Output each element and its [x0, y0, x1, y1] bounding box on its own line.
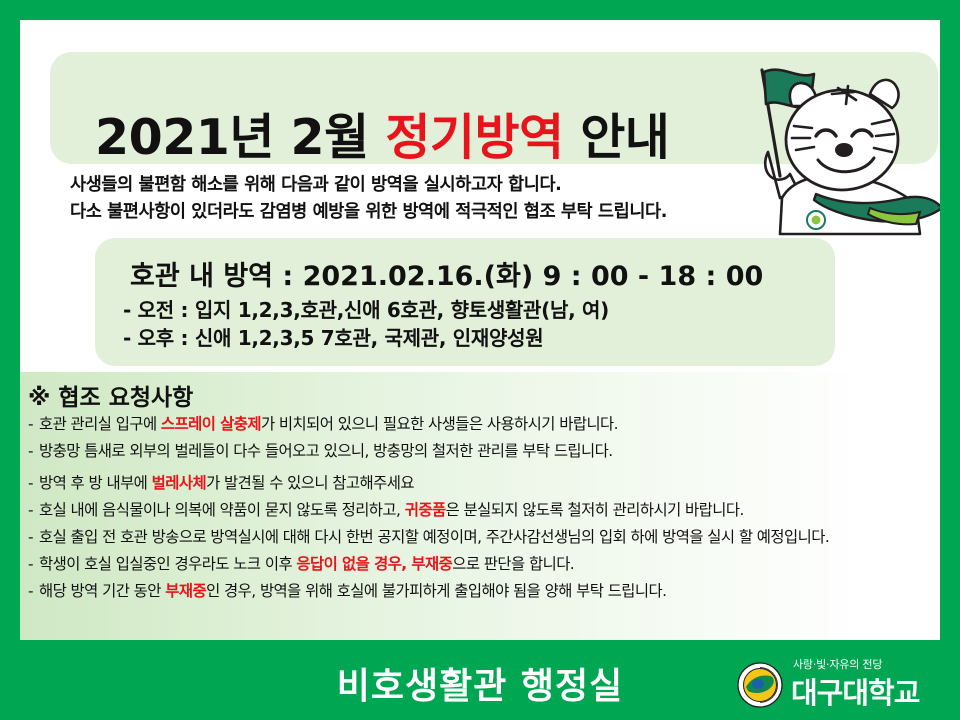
request-item-emphasis: 귀중품: [405, 501, 446, 519]
request-item-emphasis: 응답이 없을 경우, 부재중: [296, 555, 452, 573]
request-panel: ※ 협조 요청사항 호관 관리실 입구에 스프레이 살충제가 비치되어 있으니 …: [20, 372, 940, 640]
title-tail: 안내: [580, 109, 669, 166]
request-item-emphasis: 부재중: [165, 582, 206, 600]
request-item: 호실 출입 전 호관 방송으로 방역실시에 대해 다시 한번 공지할 예정이며,…: [28, 527, 919, 547]
university-name: 대구대학교: [791, 670, 919, 712]
request-item-pre: 호실 출입 전 호관 방송으로 방역실시에 대해 다시 한번 공지할 예정이며,…: [39, 528, 829, 546]
request-item: 해당 방역 기간 동안 부재중인 경우, 방역을 위해 호실에 불가피하게 출입…: [28, 581, 928, 601]
request-item-pre: 호관 관리실 입구에: [39, 415, 161, 433]
request-item: 호실 내에 음식물이나 의복에 약품이 묻지 않도록 정리하고, 귀중품은 분실…: [28, 500, 928, 520]
schedule-morning: - 오전 : 입지 1,2,3,호관,신애 6호관, 향토생활관(남, 여): [123, 296, 609, 324]
title-banner: 2021년 2월 정기방역 안내: [50, 52, 938, 164]
title-month-suffix: 월: [324, 109, 369, 166]
request-item: 방충망 틈새로 외부의 벌레들이 다수 들어오고 있으니, 방충망의 철저한 관…: [28, 441, 928, 461]
poster-sheet: 2021년 2월 정기방역 안내: [20, 20, 940, 640]
title-month: 2: [291, 109, 325, 166]
request-item-emphasis: 스프레이 살충제: [161, 415, 261, 433]
request-item-pre: 방역 후 방 내부에: [39, 474, 152, 492]
university-logo: 사랑·빛·자유의 전당 대구대학교: [737, 652, 942, 714]
request-item: 방역 후 방 내부에 벌레사체가 발견될 수 있으니 참고해주세요: [28, 473, 928, 493]
request-item-post: 은 분실되지 않도록 철저히 관리하시기 바랍니다.: [446, 501, 744, 519]
request-item-pre: 학생이 호실 입실중인 경우라도 노크 이후: [39, 555, 296, 573]
request-item: 학생이 호실 입실중인 경우라도 노크 이후 응답이 없을 경우, 부재중으로 …: [28, 554, 928, 574]
title-year-suffix: 년: [229, 109, 274, 166]
request-item-post: 가 비치되어 있으니 필요한 사생들은 사용하시기 바랍니다.: [261, 415, 618, 433]
university-emblem-icon: [737, 662, 783, 708]
page-title: 2021년 2월 정기방역 안내: [95, 98, 815, 169]
request-section-title: ※ 협조 요청사항: [28, 378, 193, 412]
request-item-pre: 방충망 틈새로 외부의 벌레들이 다수 들어오고 있으니, 방충망의 철저한 관…: [39, 442, 613, 460]
request-item-pre: 해당 방역 기간 동안: [39, 582, 165, 600]
poster-root: 2021년 2월 정기방역 안내: [0, 0, 960, 720]
request-item-post: 가 발견될 수 있으니 참고해주세요: [206, 474, 414, 492]
title-highlight: 정기방역: [385, 109, 563, 166]
request-item-pre: 호실 내에 음식물이나 의복에 약품이 묻지 않도록 정리하고,: [39, 501, 405, 519]
schedule-heading: 호관 내 방역 : 2021.02.16.(화) 9 : 00 - 18 : 0…: [130, 254, 763, 293]
schedule-detail-list: - 오전 : 입지 1,2,3,호관,신애 6호관, 향토생활관(남, 여) -…: [123, 296, 609, 353]
request-list: 호관 관리실 입구에 스프레이 살충제가 비치되어 있으니 필요한 사생들은 사…: [28, 414, 928, 608]
schedule-box: 호관 내 방역 : 2021.02.16.(화) 9 : 00 - 18 : 0…: [95, 238, 835, 366]
intro-paragraph: 사생들의 불편함 해소를 위해 다음과 같이 방역을 실시하고자 합니다. 다소…: [70, 172, 770, 226]
title-year: 2021: [95, 109, 229, 166]
intro-line-2: 다소 불편사항이 있더라도 감염병 예방을 위한 방역에 적극적인 협조 부탁 …: [70, 199, 770, 226]
request-item-post: 인 경우, 방역을 위해 호실에 불가피하게 출입해야 됨을 양해 부탁 드립니…: [206, 582, 666, 600]
schedule-afternoon: - 오후 : 신애 1,2,3,5 7호관, 국제관, 인재양성원: [123, 324, 609, 352]
request-item: 호관 관리실 입구에 스프레이 살충제가 비치되어 있으니 필요한 사생들은 사…: [28, 414, 928, 434]
intro-line-1: 사생들의 불편함 해소를 위해 다음과 같이 방역을 실시하고자 합니다.: [70, 172, 770, 199]
request-item-emphasis: 벌레사체: [152, 474, 206, 492]
request-item-post: 으로 판단을 합니다.: [452, 555, 574, 573]
